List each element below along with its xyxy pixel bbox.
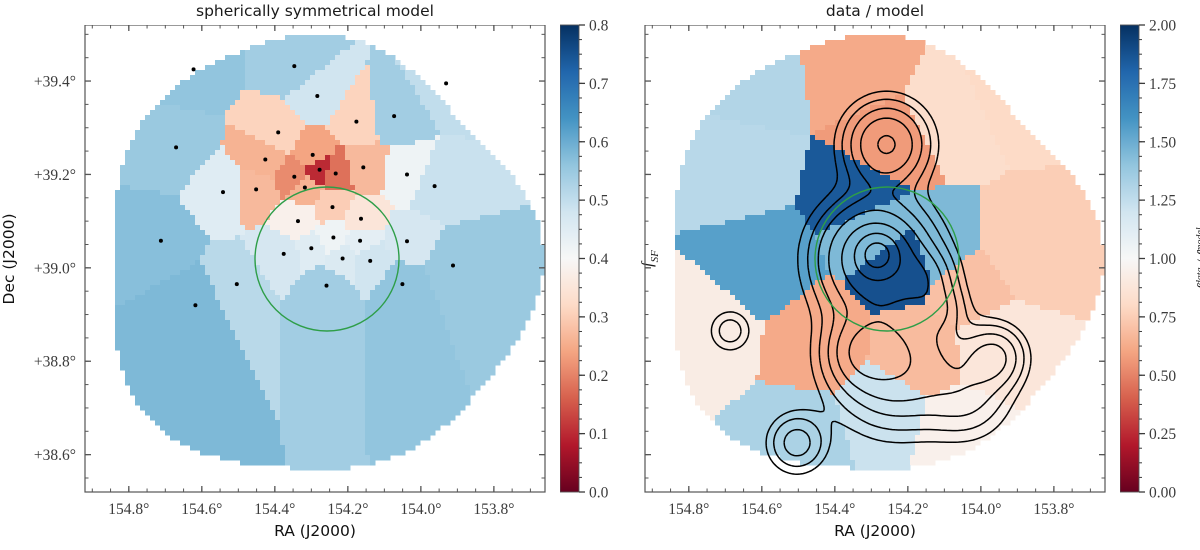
panel-title-left: spherically symmetrical model bbox=[85, 2, 545, 20]
x-tick-label: 154.8° bbox=[108, 501, 149, 518]
colorbar-axis-label-cb-right: fdataSF / fmodelSF bbox=[1195, 227, 1200, 290]
plot-svg-right: 154.8°154.6°154.4°154.2°154.0°153.8° bbox=[585, 25, 1200, 549]
x-tick-label: 154.6° bbox=[741, 501, 782, 518]
x-tick-label: 154.0° bbox=[400, 501, 441, 518]
y-tick-label: +38.8° bbox=[34, 354, 76, 371]
x-axis-label-left: RA (J2000) bbox=[85, 522, 545, 540]
x-tick-label: 153.8° bbox=[1033, 501, 1074, 518]
colorbar-tick-label: 1.50 bbox=[1149, 134, 1176, 151]
voronoi-map-right bbox=[675, 35, 1106, 471]
x-tick-label: 153.8° bbox=[473, 501, 514, 518]
y-tick-label: +39.4° bbox=[34, 74, 76, 91]
y-tick-label: +39.2° bbox=[34, 167, 76, 184]
y-tick-label: +39.0° bbox=[34, 260, 76, 277]
x-axis-label-right: RA (J2000) bbox=[645, 522, 1105, 540]
panel-title-right: data / model bbox=[645, 2, 1105, 20]
x-tick-label: 154.0° bbox=[960, 501, 1001, 518]
colorbar-tick-label: 0.50 bbox=[1149, 368, 1176, 385]
x-tick-label: 154.8° bbox=[668, 501, 709, 518]
colorbar-tick-label: 0.25 bbox=[1149, 426, 1176, 443]
colorbar-tick-label: 0.75 bbox=[1149, 309, 1176, 326]
x-tick-label: 154.2° bbox=[887, 501, 928, 518]
x-tick-label: 154.6° bbox=[181, 501, 222, 518]
x-tick-label: 154.4° bbox=[814, 501, 855, 518]
voronoi-map-left bbox=[115, 35, 546, 471]
y-tick-label: +38.6° bbox=[34, 447, 76, 464]
colorbar-cb-right: 0.000.250.500.751.001.251.501.752.00fdat… bbox=[1120, 13, 1200, 510]
x-tick-label: 154.4° bbox=[254, 501, 295, 518]
colorbar-tick-label: 1.75 bbox=[1149, 76, 1176, 93]
figure-root: spherically symmetrical model154.8°154.6… bbox=[0, 0, 1200, 550]
y-axis-label: Dec (J2000) bbox=[0, 25, 18, 492]
colorbar-tick-label: 0.00 bbox=[1149, 485, 1176, 502]
colorbar-tick-label: 2.00 bbox=[1149, 18, 1176, 35]
x-tick-label: 154.2° bbox=[327, 501, 368, 518]
colorbar-tick-label: 1.00 bbox=[1149, 251, 1176, 268]
colorbar-tick-label: 1.25 bbox=[1149, 193, 1176, 210]
